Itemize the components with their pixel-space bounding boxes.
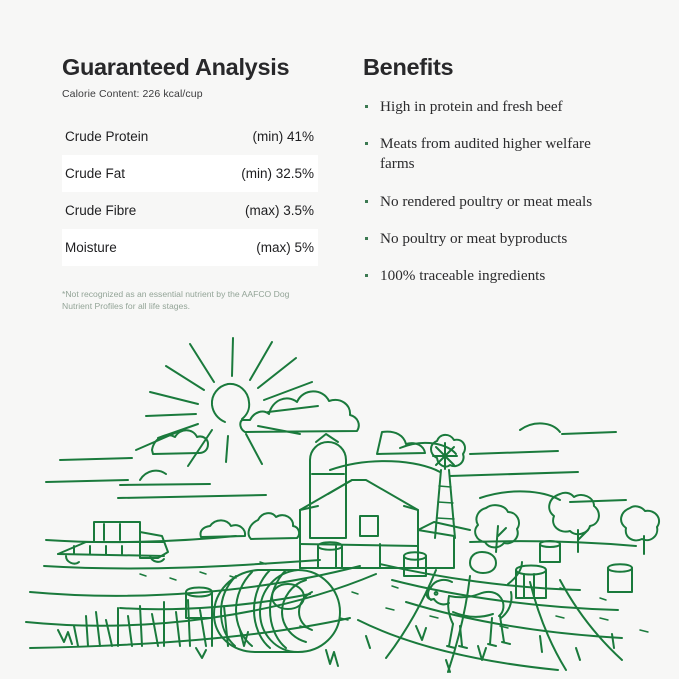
benefits-title: Benefits [363,55,623,81]
table-row: Crude Protein (min) 41% [62,118,318,155]
combine-harvester-icon [58,522,168,564]
grass-tufts [58,562,648,672]
table-row: Moisture (max) 5% [62,229,318,266]
foreground-hay-bale-icon [214,570,340,652]
list-item: High in protein and fresh beef [363,97,623,117]
nutrient-value: (max) 5% [256,240,314,255]
list-item-label: No poultry or meat byproducts [380,230,567,247]
benefits-list: High in protein and fresh beef Meats fro… [363,97,623,286]
farm-landscape-illustration [0,330,679,679]
windmill-icon [431,435,465,538]
list-item-label: 100% traceable ingredients [380,267,545,284]
list-item-label: Meats from audited higher welfare farms [380,135,591,172]
product-info-page: Guaranteed Analysis Calorie Content: 226… [0,0,679,679]
clouds-icon [46,391,626,502]
bullet-icon [365,105,368,108]
benefits-panel: Benefits High in protein and fresh beef … [363,55,623,303]
aafco-footnote: *Not recognized as an essential nutrient… [62,288,302,312]
bullet-icon [365,237,368,240]
dog-icon [426,562,522,648]
guaranteed-analysis-panel: Guaranteed Analysis Calorie Content: 226… [62,55,320,321]
table-row: Crude Fat (min) 32.5% [62,155,318,192]
list-item: No rendered poultry or meat meals [363,192,623,212]
nutrient-label: Crude Protein [65,129,148,144]
nutrient-value: (max) 3.5% [245,203,314,218]
nutrient-label: Crude Fat [65,166,125,181]
bullet-icon [365,142,368,145]
list-item: No poultry or meat byproducts [363,229,623,249]
calorie-content-text: Calorie Content: 226 kcal/cup [62,88,320,100]
nutrient-label: Moisture [65,240,117,255]
nutrient-label: Crude Fibre [65,203,136,218]
nutrition-table: Crude Protein (min) 41% Crude Fat (min) … [62,118,318,266]
table-row: Crude Fibre (max) 3.5% [62,192,318,229]
list-item-label: No rendered poultry or meat meals [380,193,592,210]
bullet-icon [365,274,368,277]
nutrient-value: (min) 32.5% [241,166,314,181]
guaranteed-analysis-title: Guaranteed Analysis [62,55,320,81]
sun-with-rays-icon [136,338,318,466]
bullet-icon [365,200,368,203]
list-item-label: High in protein and fresh beef [380,98,563,115]
nutrient-value: (min) 41% [252,129,314,144]
list-item: Meats from audited higher welfare farms [363,134,623,174]
list-item: 100% traceable ingredients [363,266,623,286]
